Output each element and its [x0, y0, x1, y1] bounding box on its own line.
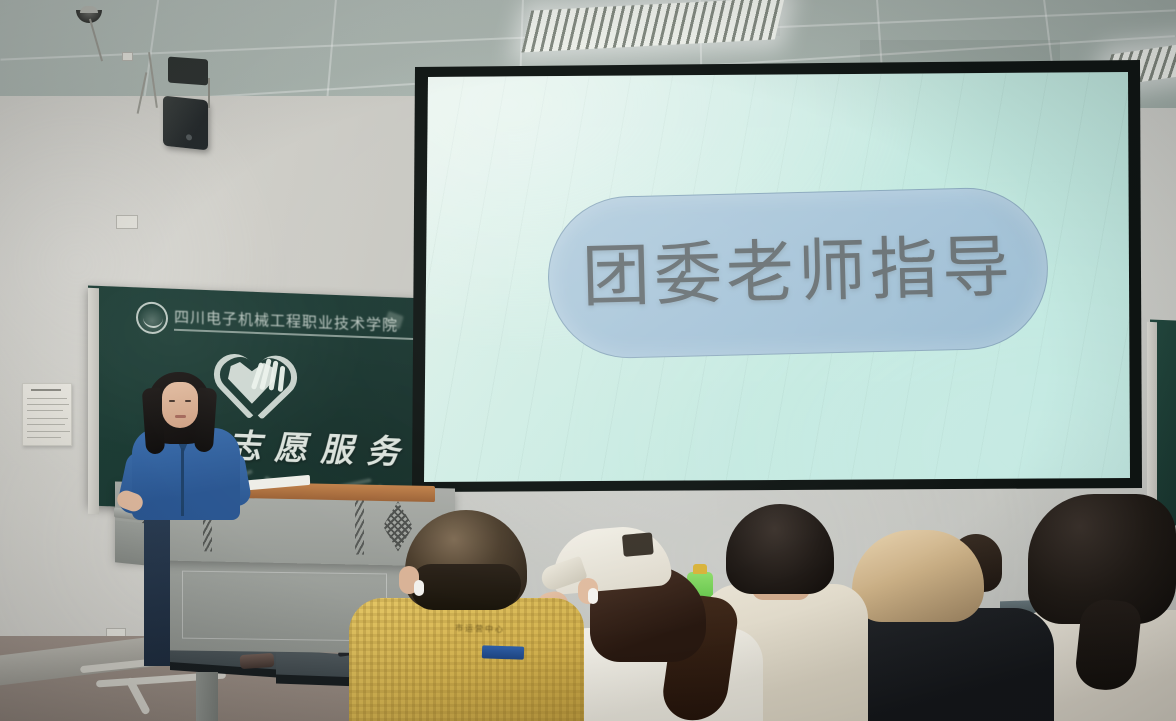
- banner-left-strip: [88, 288, 99, 514]
- sweater-label-tag: [482, 645, 524, 659]
- banner-subtitle: 志愿服务: [228, 419, 412, 474]
- earbud-icon: [414, 580, 424, 596]
- earbud-icon: [588, 588, 598, 604]
- classroom-photo: 四川电子机械工程职业技术学院 志愿服务 团委老师指导: [0, 0, 1176, 721]
- slide-title-text: 团委老师指导: [581, 234, 1015, 313]
- power-outlet-icon: [122, 52, 133, 61]
- presenter-mouth: [175, 415, 186, 418]
- wall-switch-icon: [116, 215, 138, 229]
- wall-notice-paper: [22, 383, 72, 446]
- presenter-legs: [144, 516, 170, 666]
- student-black-top-hair: [852, 530, 984, 622]
- university-seal-icon: [136, 301, 168, 334]
- notice-heading-line: [31, 389, 61, 391]
- hand-fingers: [255, 358, 289, 399]
- mobile-phone[interactable]: [240, 653, 275, 669]
- speaker-bracket: [168, 57, 208, 86]
- bottle-cap: [693, 564, 707, 574]
- wall-speaker-icon: [163, 96, 208, 151]
- slide-title-pill: 团委老师指导: [546, 186, 1050, 360]
- lectern-diamond-vent-right: [383, 501, 413, 552]
- presenter-face: [162, 382, 198, 428]
- chalkboard-right-strip: [1147, 322, 1157, 522]
- student-yellow-sweater-torso: [349, 598, 584, 721]
- speaker-link-cable: [208, 78, 210, 108]
- presenter-zipper: [181, 448, 184, 516]
- hand-in-heart-icon: [218, 342, 298, 417]
- desk-left-leg: [196, 672, 218, 721]
- lectern-slot-vent-right: [355, 496, 364, 554]
- cap-patch: [622, 532, 654, 557]
- hair-nape: [411, 564, 521, 610]
